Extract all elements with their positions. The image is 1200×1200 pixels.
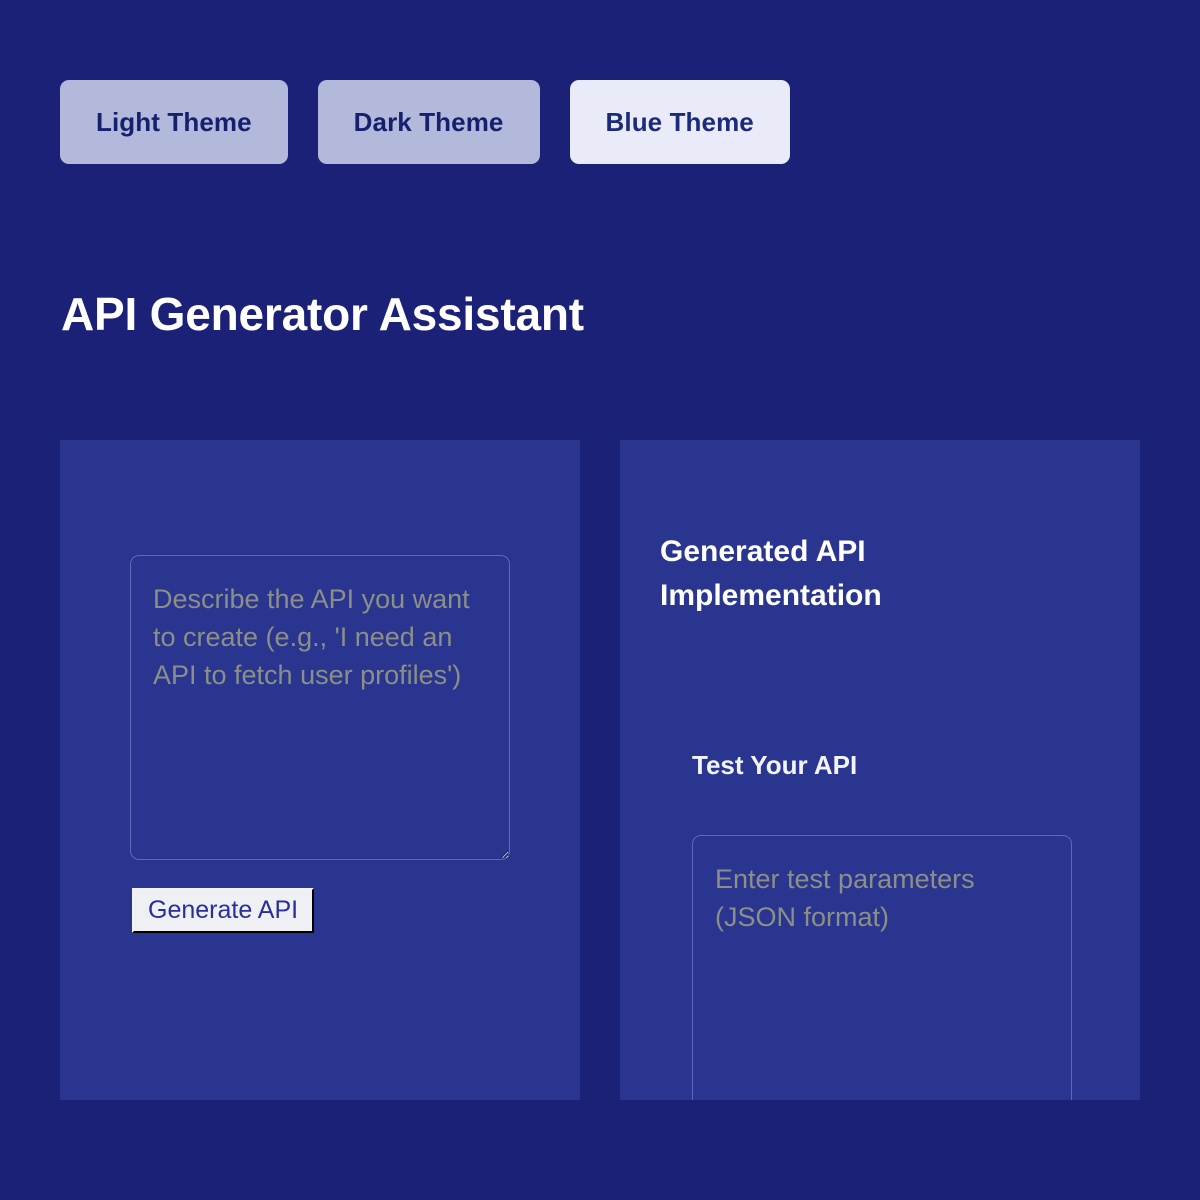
generate-api-button[interactable]: Generate API <box>132 888 314 933</box>
light-theme-button[interactable]: Light Theme <box>60 80 288 164</box>
api-description-input[interactable] <box>130 555 510 860</box>
dark-theme-button[interactable]: Dark Theme <box>318 80 540 164</box>
test-parameters-wrapper <box>692 835 1072 1100</box>
page-title: API Generator Assistant <box>61 288 584 341</box>
generated-api-heading: Generated API Implementation <box>660 530 950 617</box>
test-parameters-input[interactable] <box>692 835 1072 1100</box>
panels-container: Generate API Generated API Implementatio… <box>60 440 1140 1100</box>
theme-switcher: Light Theme Dark Theme Blue Theme <box>60 80 790 164</box>
blue-theme-button[interactable]: Blue Theme <box>570 80 790 164</box>
generated-api-panel: Generated API Implementation Test Your A… <box>620 440 1140 1100</box>
test-api-heading: Test Your API <box>692 750 857 781</box>
app-root: Light Theme Dark Theme Blue Theme API Ge… <box>0 0 1200 1200</box>
api-prompt-panel: Generate API <box>60 440 580 1100</box>
prompt-input-wrapper <box>130 555 510 860</box>
generated-api-output <box>660 615 1100 725</box>
